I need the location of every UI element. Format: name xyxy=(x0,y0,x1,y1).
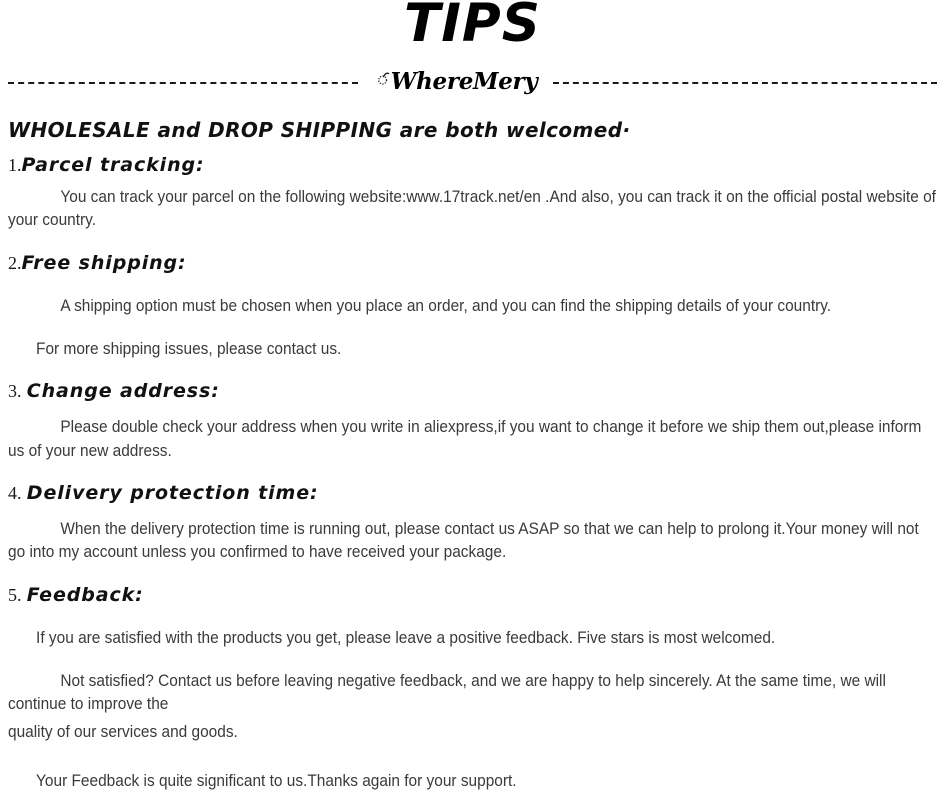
flourish-circle-icon xyxy=(377,72,390,85)
brand-logo: WhereMery xyxy=(358,68,556,98)
section-feedback: 5. Feedback: If you are satisfied with t… xyxy=(8,585,937,794)
section-paragraph: Your Feedback is quite significant to us… xyxy=(8,770,936,793)
section-number: 1. xyxy=(8,155,22,175)
document-body: WHOLESALE and DROP SHIPPING are both wel… xyxy=(8,104,937,794)
section-number: 3. xyxy=(8,381,22,401)
section-heading: 5. Feedback: xyxy=(8,585,937,607)
section-title: Free shipping: xyxy=(22,252,187,274)
section-free-shipping: 2.Free shipping: A shipping option must … xyxy=(8,253,937,362)
section-heading: 1.Parcel tracking: xyxy=(8,155,937,177)
section-paragraph: A shipping option must be chosen when yo… xyxy=(8,295,936,318)
section-delivery-protection-time: 4. Delivery protection time: When the de… xyxy=(8,483,937,565)
lede-statement: WHOLESALE and DROP SHIPPING are both wel… xyxy=(8,118,937,142)
brand-rule-row: WhereMery xyxy=(0,68,945,98)
section-heading: 4. Delivery protection time: xyxy=(8,483,937,505)
section-paragraph: Not satisfied? Contact us before leaving… xyxy=(8,670,936,717)
section-paragraph: Please double check your address when yo… xyxy=(8,416,936,463)
section-title: Change address: xyxy=(27,380,220,402)
section-paragraph: You can track your parcel on the followi… xyxy=(8,186,936,233)
masthead: TIPS WhereMery xyxy=(0,0,945,100)
section-change-address: 3. Change address: Please double check y… xyxy=(8,381,937,463)
section-title: Feedback: xyxy=(27,584,144,606)
section-paragraph: For more shipping issues, please contact… xyxy=(8,338,936,361)
section-title: Parcel tracking: xyxy=(22,154,205,176)
section-parcel-tracking: 1.Parcel tracking: You can track your pa… xyxy=(8,155,937,233)
section-paragraph: quality of our services and goods. xyxy=(8,721,936,744)
section-title: Delivery protection time: xyxy=(27,482,319,504)
page-title: TIPS xyxy=(0,0,945,52)
section-paragraph: When the delivery protection time is run… xyxy=(8,518,936,565)
section-number: 5. xyxy=(8,585,22,605)
tips-document-page: TIPS WhereMery WHOLESALE and DROP SHIPPI… xyxy=(0,0,945,794)
section-number: 4. xyxy=(8,483,22,503)
brand-name: WhereMery xyxy=(391,68,538,95)
section-paragraph: If you are satisfied with the products y… xyxy=(8,627,936,650)
section-heading: 3. Change address: xyxy=(8,381,937,403)
section-number: 2. xyxy=(8,253,22,273)
divider-right xyxy=(553,82,937,84)
divider-left xyxy=(8,82,358,84)
section-heading: 2.Free shipping: xyxy=(8,253,937,275)
